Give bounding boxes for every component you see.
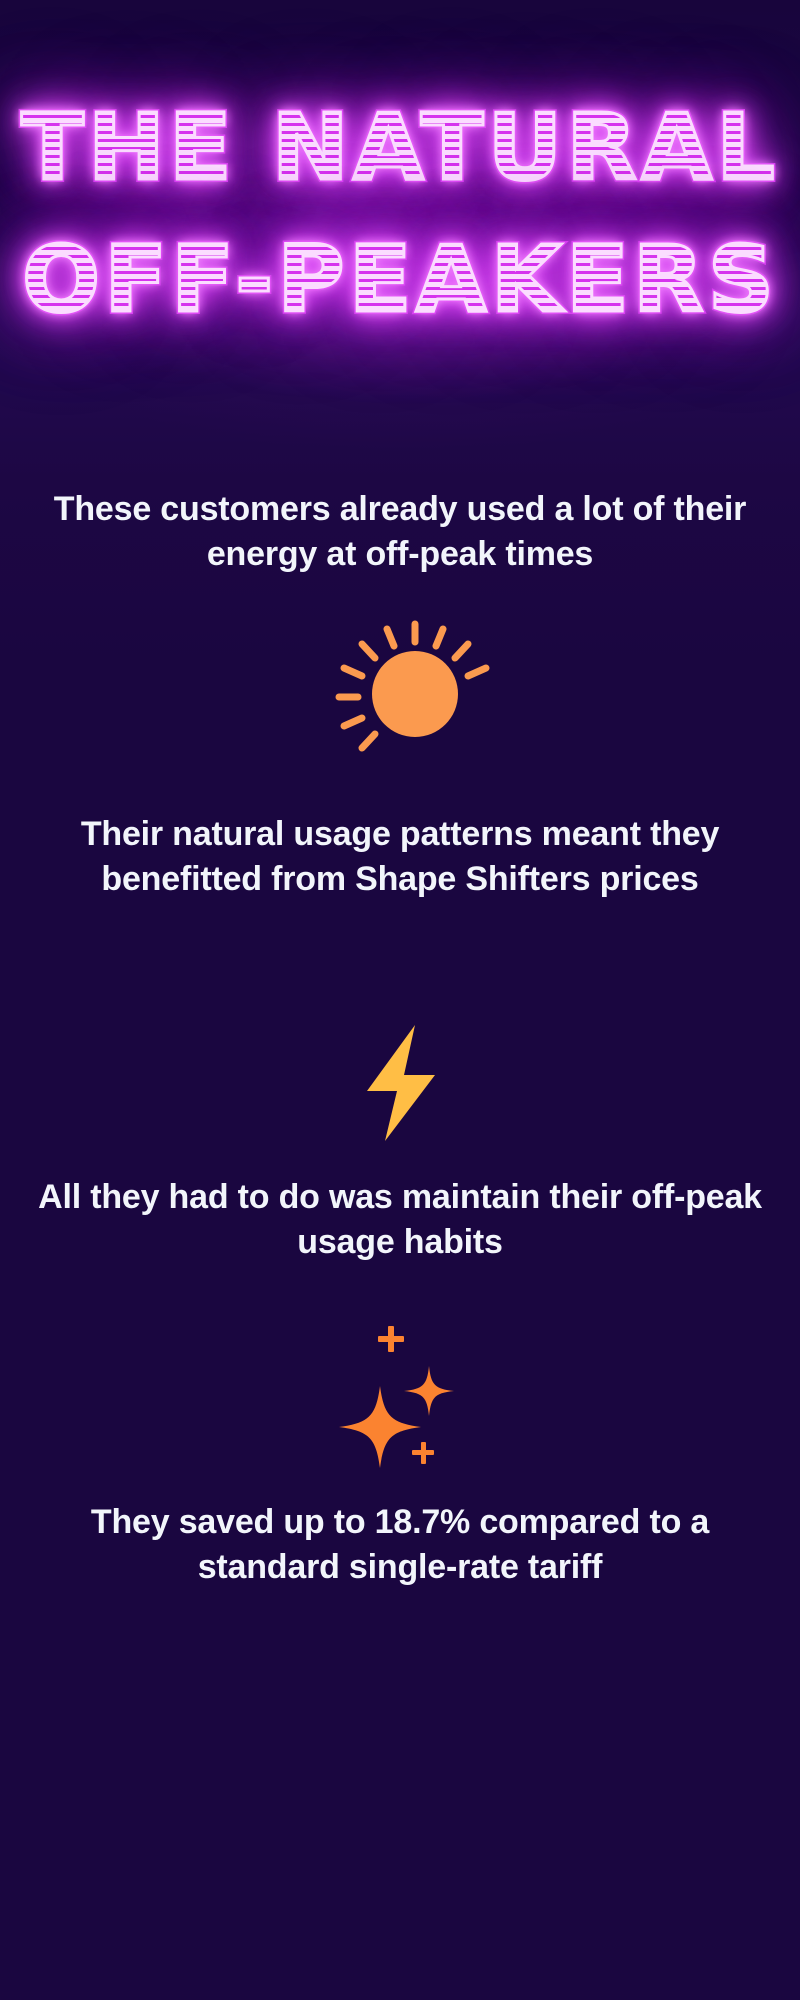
title-line-1: THE NATURAL THE NATURAL THE NATURAL xyxy=(0,78,800,218)
lightning-bolt-icon xyxy=(357,1023,443,1143)
section-3-text: All they had to do was maintain their of… xyxy=(0,1175,800,1265)
title-line-1-text: THE NATURAL xyxy=(21,78,779,218)
section-3-icon-slot xyxy=(0,1320,800,1480)
title-line-2-text: OFF-PEAKERS xyxy=(22,210,778,350)
section-1-icon-slot xyxy=(0,625,800,745)
section-4-text: They saved up to 18.7% compared to a sta… xyxy=(0,1500,800,1590)
section-1-text: These customers already used a lot of th… xyxy=(0,487,800,577)
section-2-text: Their natural usage patterns meant they … xyxy=(0,812,800,902)
sun-icon xyxy=(330,626,470,744)
title-line-2: OFF-PEAKERS OFF-PEAKERS OFF-PEAKERS xyxy=(0,210,800,350)
section-2-icon-slot xyxy=(0,1018,800,1148)
infographic-poster: THE NATURAL THE NATURAL THE NATURAL OFF-… xyxy=(0,0,800,2000)
page-title: THE NATURAL THE NATURAL THE NATURAL OFF-… xyxy=(0,78,800,350)
sparkles-icon xyxy=(335,1324,465,1476)
